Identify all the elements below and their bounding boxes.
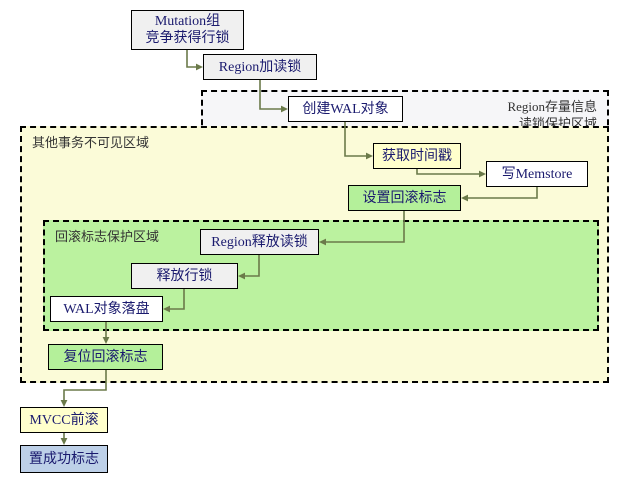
reset-rollback-flag[interactable]: 复位回滚标志: [48, 344, 163, 370]
wal-flush-disk[interactable]: WAL对象落盘: [50, 296, 163, 322]
set-success-flag[interactable]: 置成功标志: [20, 445, 108, 473]
region-acquire-read[interactable]: Region加读锁: [203, 54, 317, 80]
release-row-lock[interactable]: 释放行锁: [131, 263, 238, 289]
write-memstore[interactable]: 写Memstore: [486, 161, 588, 187]
region-rollback-flag-label: 回滚标志保护区域: [55, 228, 159, 245]
get-timestamp[interactable]: 获取时间戳: [373, 143, 461, 169]
mutation-group[interactable]: Mutation组 竞争获得行锁: [131, 10, 244, 50]
region-release-read[interactable]: Region释放读锁: [200, 229, 319, 255]
flowchart-canvas: Region存量信息 读锁保护区域其他事务不可见区域回滚标志保护区域Mutati…: [0, 0, 635, 494]
edge-mutation-to-acquire: [187, 50, 203, 70]
mvcc-forward[interactable]: MVCC前滚: [20, 407, 108, 433]
create-wal[interactable]: 创建WAL对象: [288, 96, 403, 122]
region-invisible-label: 其他事务不可见区域: [32, 134, 149, 151]
edge-mvcc-to-success: [61, 433, 68, 445]
set-rollback-flag[interactable]: 设置回滚标志: [348, 185, 461, 211]
